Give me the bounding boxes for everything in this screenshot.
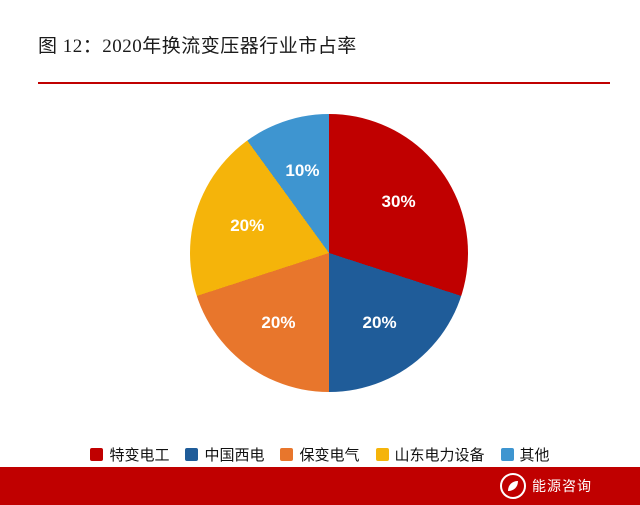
legend-item: 其他 (501, 444, 550, 465)
chart-legend: 特变电工 中国西电 保变电气 山东电力设备 其他 (0, 440, 640, 468)
pie-chart: 30% 20% 20% 20% 10% (190, 114, 468, 392)
legend-item-label: 其他 (520, 444, 550, 465)
legend-swatch-icon (280, 448, 293, 461)
watermark-label: 能源咨询 (532, 476, 592, 496)
watermark-badge: 能源咨询 (500, 471, 626, 501)
leaf-icon (500, 473, 526, 499)
legend-swatch-icon (501, 448, 514, 461)
legend-item: 中国西电 (185, 444, 264, 465)
legend-item-label: 中国西电 (204, 444, 264, 465)
legend-item: 山东电力设备 (376, 444, 485, 465)
slice-value-label: 20% (261, 313, 295, 333)
legend-item: 保变电气 (280, 444, 359, 465)
title-divider (38, 82, 610, 84)
legend-swatch-icon (185, 448, 198, 461)
legend-swatch-icon (376, 448, 389, 461)
chart-title-bar: 图 12：2020年换流变压器行业市占率 (38, 22, 608, 66)
legend-item-label: 山东电力设备 (395, 444, 485, 465)
slice-value-label: 10% (285, 161, 319, 181)
slice-value-label: 20% (230, 216, 264, 236)
legend-item-label: 特变电工 (109, 444, 169, 465)
chart-page: 图 12：2020年换流变压器行业市占率 30% 20% 20% 20% 10%… (0, 0, 640, 505)
legend-item: 特变电工 (90, 444, 169, 465)
chart-area: 30% 20% 20% 20% 10% (0, 92, 640, 432)
pie-slices (190, 114, 468, 392)
slice-value-label: 30% (382, 192, 416, 212)
footer-bar: 能源咨询 (0, 467, 640, 505)
legend-swatch-icon (90, 448, 103, 461)
page-title: 图 12：2020年换流变压器行业市占率 (38, 31, 357, 58)
slice-value-label: 20% (363, 313, 397, 333)
legend-item-label: 保变电气 (299, 444, 359, 465)
